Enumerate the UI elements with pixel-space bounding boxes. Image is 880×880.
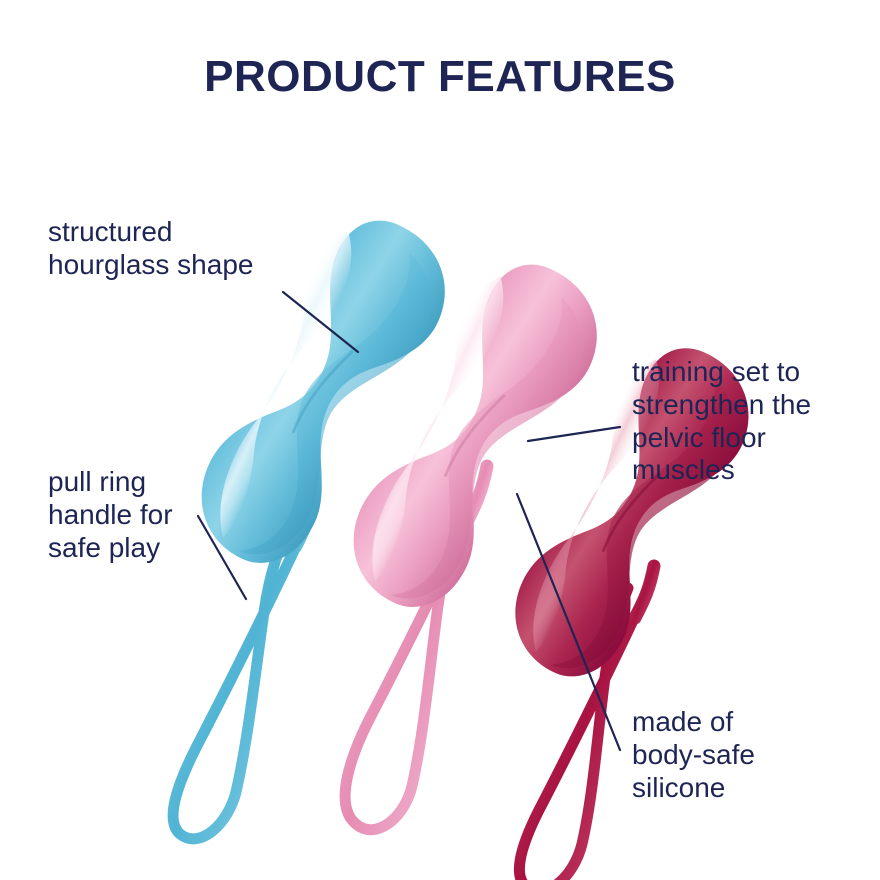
- leader-line-training: [528, 427, 620, 441]
- callout-body-safe-silicone: made of body-safe silicone: [632, 706, 755, 804]
- callout-pull-ring-handle: pull ring handle for safe play: [48, 466, 173, 564]
- infographic-canvas: PRODUCT FEATURES: [0, 0, 880, 880]
- callout-structured-hourglass-shape: structured hourglass shape: [48, 216, 253, 282]
- burgundy-stem: [635, 566, 654, 618]
- callout-training-set-pelvic-floor: training set to strengthen the pelvic fl…: [632, 356, 811, 487]
- blue-pull-ring: [173, 524, 298, 839]
